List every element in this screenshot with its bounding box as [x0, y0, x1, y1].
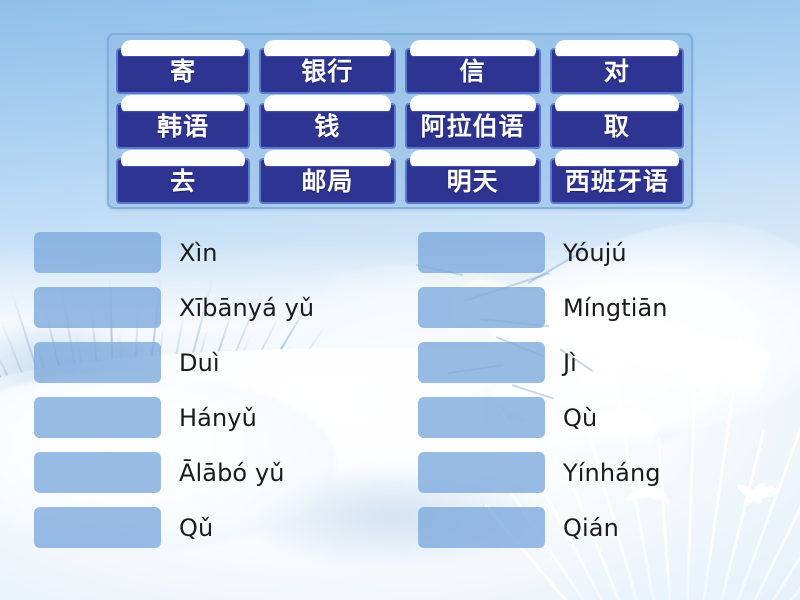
word-bank-row: 寄银行信对 [116, 41, 684, 95]
word-tile[interactable]: 钱 [259, 103, 395, 149]
answer-row: Xībānyá yǔ [34, 285, 414, 330]
word-tile-label: 钱 [314, 114, 340, 139]
word-tile[interactable]: 韩语 [116, 103, 250, 149]
answer-label: Duì [179, 351, 220, 375]
word-tile-label: 去 [170, 169, 196, 194]
answer-label: Yóujú [563, 241, 627, 265]
word-tile[interactable]: 取 [550, 103, 684, 149]
word-tile-label: 银行 [301, 59, 353, 84]
word-tile[interactable]: 阿拉伯语 [405, 103, 541, 149]
answer-row: Qián [418, 505, 798, 550]
answer-dropzone[interactable] [34, 397, 161, 438]
answer-label: Ālābó yǔ [179, 461, 285, 485]
answer-dropzone[interactable] [34, 232, 161, 273]
word-tile-label: 取 [604, 114, 630, 139]
answer-row: Míngtiān [418, 285, 798, 330]
answer-label: Qù [563, 406, 597, 430]
word-tile-label: 西班牙语 [565, 169, 669, 194]
answer-row: Jì [418, 340, 798, 385]
answer-label: Xìn [179, 241, 218, 265]
answer-dropzone[interactable] [34, 507, 161, 548]
word-tile[interactable]: 西班牙语 [550, 158, 684, 204]
answer-label: Hányǔ [179, 406, 257, 430]
answer-dropzone[interactable] [418, 287, 545, 328]
word-tile-label: 对 [604, 59, 630, 84]
word-tile[interactable]: 寄 [116, 48, 250, 94]
answer-dropzone[interactable] [418, 452, 545, 493]
word-tile[interactable]: 邮局 [259, 158, 395, 204]
word-tile[interactable]: 信 [405, 48, 541, 94]
answer-column-left: XìnXībānyá yǔDuìHányǔĀlābó yǔQǔ [34, 230, 414, 560]
answer-dropzone[interactable] [418, 232, 545, 273]
word-tile-label: 明天 [447, 169, 499, 194]
answer-dropzone[interactable] [34, 287, 161, 328]
answer-row: Yínháng [418, 450, 798, 495]
word-tile[interactable]: 对 [550, 48, 684, 94]
answer-dropzone[interactable] [418, 397, 545, 438]
answer-row: Qǔ [34, 505, 414, 550]
answer-label: Qǔ [179, 516, 213, 540]
answer-column-right: YóujúMíngtiānJìQùYínhángQián [418, 230, 798, 560]
word-bank-row: 韩语钱阿拉伯语取 [116, 96, 684, 150]
word-tile-label: 韩语 [157, 114, 209, 139]
answer-label: Xībānyá yǔ [179, 296, 314, 320]
word-tile-label: 信 [460, 59, 486, 84]
answer-dropzone[interactable] [418, 507, 545, 548]
answer-label: Míngtiān [563, 296, 668, 320]
answer-row: Ālābó yǔ [34, 450, 414, 495]
word-tile-label: 寄 [170, 59, 196, 84]
word-tile[interactable]: 银行 [259, 48, 395, 94]
answer-label: Yínháng [563, 461, 661, 485]
answer-dropzone[interactable] [34, 342, 161, 383]
word-bank-panel: 寄银行信对韩语钱阿拉伯语取去邮局明天西班牙语 [107, 33, 693, 209]
answer-row: Xìn [34, 230, 414, 275]
answer-dropzone[interactable] [34, 452, 161, 493]
answer-row: Hányǔ [34, 395, 414, 440]
answer-label: Jì [563, 351, 577, 375]
answer-row: Qù [418, 395, 798, 440]
word-bank-row: 去邮局明天西班牙语 [116, 151, 684, 205]
word-tile[interactable]: 明天 [405, 158, 541, 204]
answer-dropzone[interactable] [418, 342, 545, 383]
answer-label: Qián [563, 516, 619, 540]
word-tile-label: 邮局 [301, 169, 353, 194]
word-tile-label: 阿拉伯语 [421, 114, 525, 139]
answer-row: Duì [34, 340, 414, 385]
answer-row: Yóujú [418, 230, 798, 275]
word-tile[interactable]: 去 [116, 158, 250, 204]
